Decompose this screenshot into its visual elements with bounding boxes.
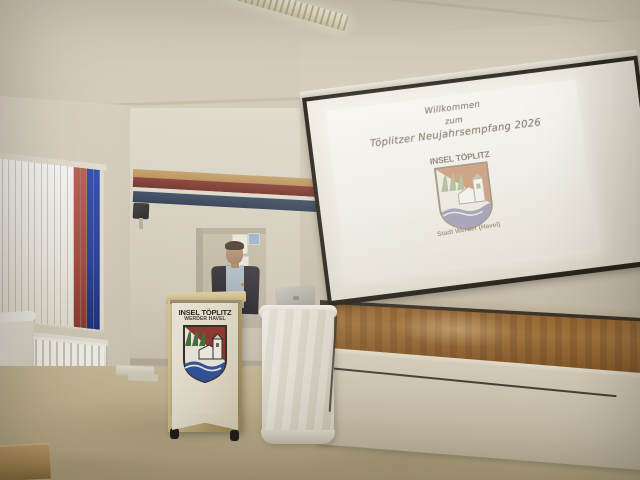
- banner-coat-of-arms-icon: [182, 324, 228, 384]
- stage-deck-light-reflection: [380, 302, 530, 356]
- lectern-banner: INSEL TÖPLITZ WERDER HAVEL: [172, 303, 238, 415]
- wall-speaker-bracket: [139, 218, 143, 229]
- wall-speaker: [133, 203, 150, 220]
- floor-object-secondary: [128, 373, 158, 381]
- slide-coat-of-arms: INSEL TÖPLITZ Stadt Werder (Havel): [423, 148, 507, 256]
- blind-slat-blue: [94, 169, 101, 330]
- lectern-caster-wheel: [170, 428, 179, 439]
- standing-table-cloth-hem: [261, 430, 335, 444]
- laptop-logo-icon: [293, 296, 299, 300]
- standing-table-cloth: [262, 310, 334, 442]
- wooden-object-corner: [0, 445, 51, 480]
- hair: [225, 241, 244, 250]
- lectern-caster-wheel: [230, 430, 239, 441]
- photo-scene: Willkommen zum Töplitzer Neujahrsempfang…: [0, 0, 640, 480]
- banner-subtitle: WERDER HAVEL: [172, 316, 238, 322]
- vertical-blinds[interactable]: [0, 158, 100, 330]
- lapel-pin-icon: [241, 283, 244, 286]
- projection-screen: Willkommen zum Töplitzer Neujahrsempfang…: [302, 56, 640, 307]
